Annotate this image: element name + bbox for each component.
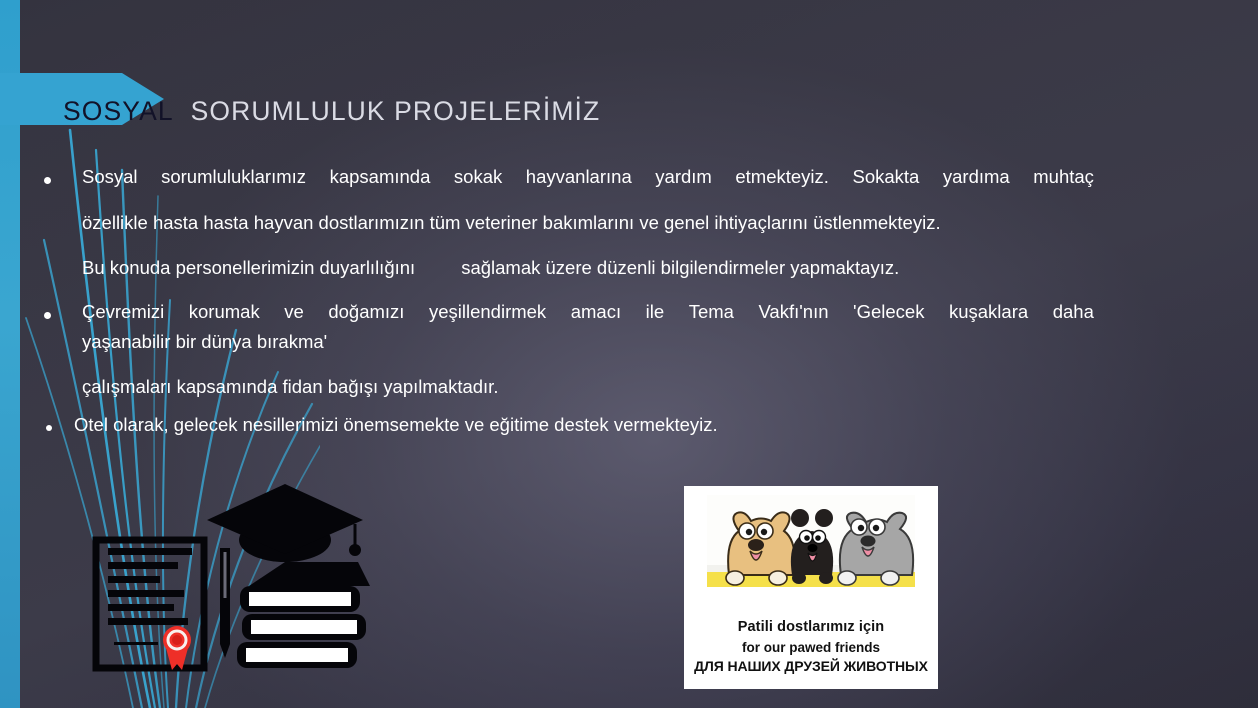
word: ile [646,303,665,322]
word: doğamızı [328,303,404,322]
education-illustration [92,482,370,708]
grey-dog [838,513,913,585]
list-item: Otel olarak, gelecek nesillerimizi önems… [38,416,1103,435]
body-line: yaşanabilir bir dünya bırakma' [82,333,1103,352]
word: 'Gelecek [853,303,924,322]
word: yardıma [943,168,1010,187]
graduation-cap [207,484,363,562]
list-item: Sosyal sorumluluklarımız kapsamında soka… [38,168,1103,278]
slide-body: Sosyal sorumluluklarımız kapsamında soka… [38,164,1103,435]
bullet-dot-icon [46,425,52,431]
word: sorumluluklarımız [161,168,306,187]
body-line-part-a: Bu konuda personellerimizin duyarlılığın… [82,257,415,278]
word: etmekteyiz. [735,168,829,187]
word: hayvanlarına [526,168,632,187]
word: yeşillendirmek [429,303,546,322]
word: Sokakta [852,168,919,187]
word: muhtaç [1033,168,1094,187]
word: kuşaklara [949,303,1028,322]
word: Tema [689,303,734,322]
word: ve [284,303,304,322]
golden-dog [726,512,795,585]
bullet-dot-icon [44,312,51,319]
body-line: özellikle hasta hasta hayvan dostlarımız… [82,214,1103,233]
word: daha [1053,303,1094,322]
word: Çevremizi [82,303,164,322]
dogs-caption-block: Patili dostlarımız için for our pawed fr… [684,618,938,676]
word: korumak [189,303,260,322]
word: amacı [571,303,621,322]
red-award-seal [163,626,191,670]
body-line: Sosyal sorumluluklarımız kapsamında soka… [82,168,1094,187]
presentation-slide: SOSYAL SORUMLULUK PROJELERİMİZ Sosyal so… [0,0,1258,708]
pen-icon [220,548,230,658]
word: yardım [655,168,712,187]
bullet-dot-icon [44,177,51,184]
stacked-books [237,562,370,668]
page-title: SOSYAL SORUMLULUK PROJELERİMİZ [63,96,600,127]
dogs-image-card: Patili dostlarımız için for our pawed fr… [684,486,938,689]
page-title-head: SOSYAL [63,96,174,126]
list-item: Çevremizi korumak ve doğamızı yeşillendi… [38,303,1103,397]
body-line: çalışmaları kapsamında fidan bağışı yapı… [82,378,1103,397]
body-line: Bu konuda personellerimizin duyarlılığın… [82,259,1103,278]
dogs-caption-ru: ДЛЯ НАШИХ ДРУЗЕЙ ЖИВОТНЫХ [684,657,938,676]
word: kapsamında [330,168,431,187]
body-line: Çevremizi korumak ve doğamızı yeşillendi… [82,303,1094,322]
word: Vakfı'nın [758,303,828,322]
word: Sosyal [82,168,138,187]
page-title-tail: SORUMLULUK PROJELERİMİZ [191,96,601,126]
dogs-caption-tr: Patili dostlarımız için [684,618,938,638]
body-line-part-b: sağlamak üzere düzenli bilgilendirmeler … [461,257,899,278]
body-line: Otel olarak, gelecek nesillerimizi önems… [74,416,1103,435]
dogs-caption-en: for our pawed friends [684,638,938,658]
three-cartoon-dogs-icon [707,495,915,587]
word: sokak [454,168,502,187]
